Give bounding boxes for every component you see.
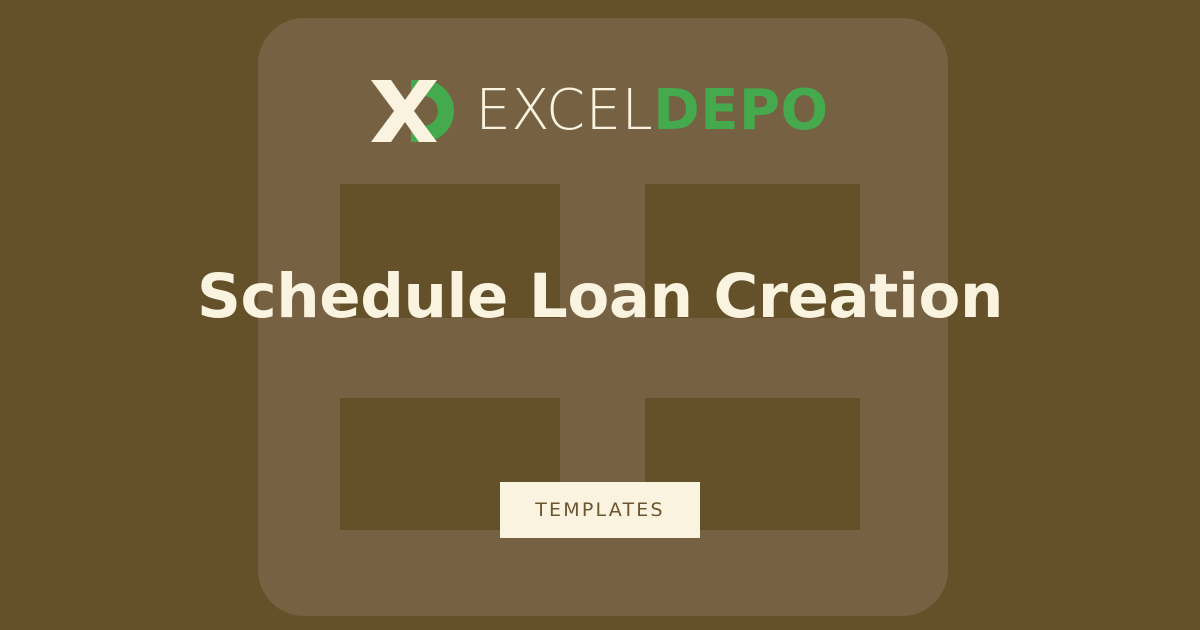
brand-logo[interactable]: EXCEL DEPO bbox=[0, 70, 1200, 152]
brand-word-excel: EXCEL bbox=[475, 80, 653, 142]
brand-word-depo: DEPO bbox=[653, 80, 828, 142]
category-badge-label: TEMPLATES bbox=[535, 499, 664, 521]
xd-monogram-icon bbox=[371, 80, 467, 142]
preview-card: EXCEL DEPO Schedule Loan Creation TEMPLA… bbox=[0, 0, 1200, 630]
page-title: Schedule Loan Creation bbox=[0, 258, 1200, 336]
category-badge[interactable]: TEMPLATES bbox=[500, 482, 700, 538]
